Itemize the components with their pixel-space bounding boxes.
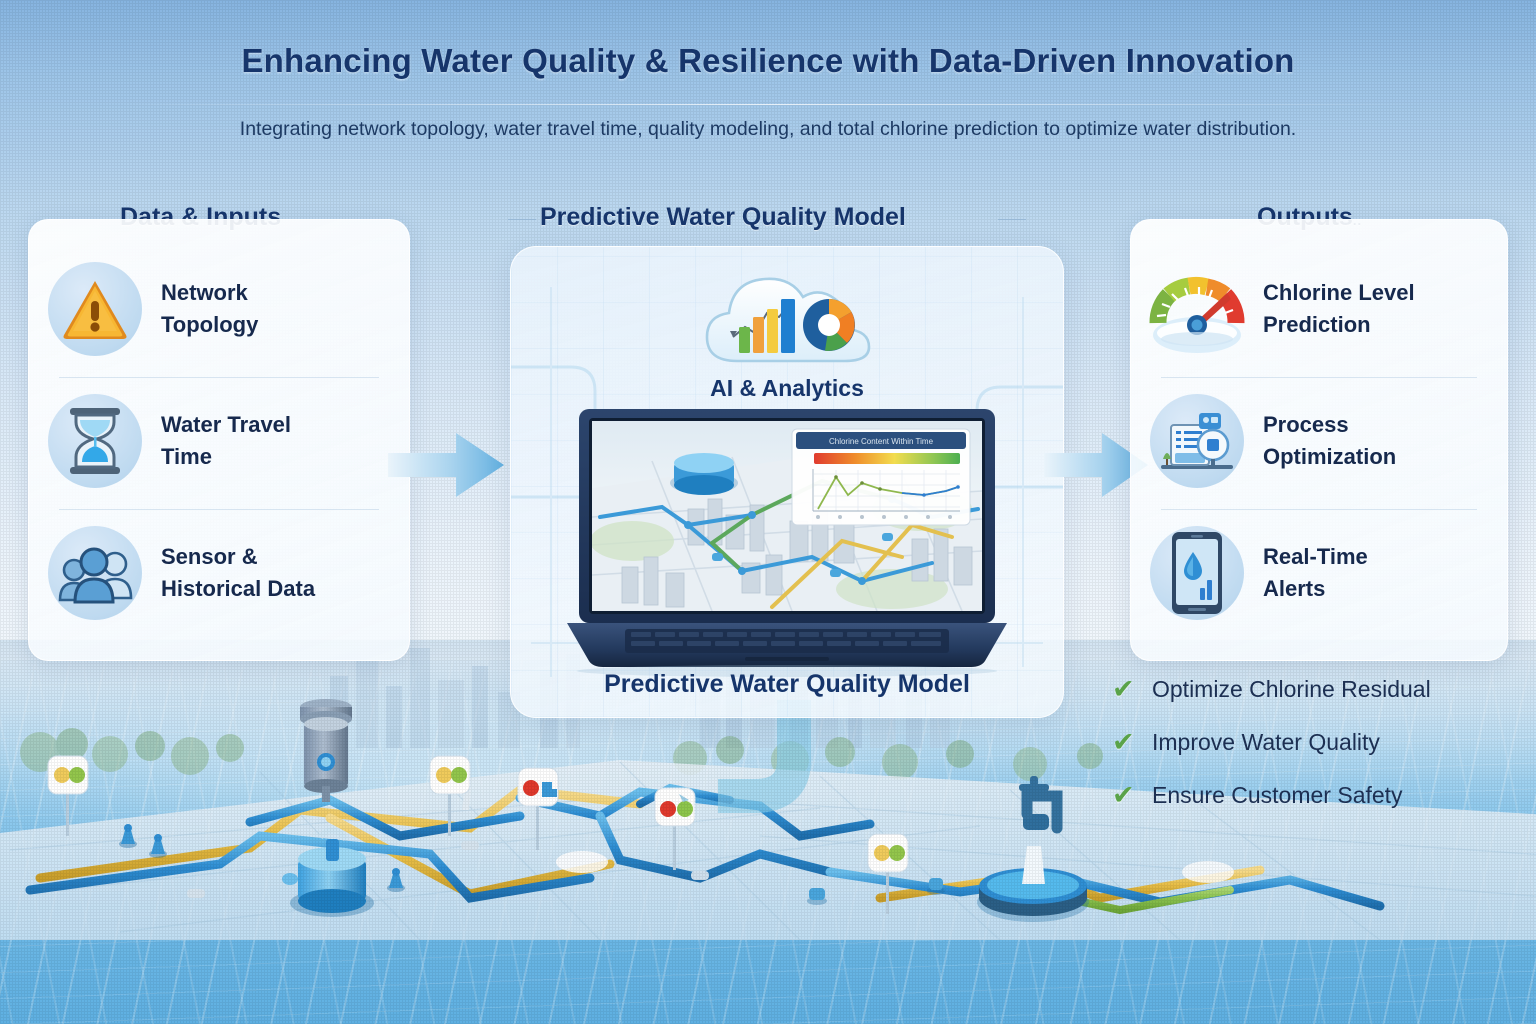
list-item-benefit: ✔ Improve Water Quality (1112, 729, 1512, 756)
benefits-checklist: ✔ Optimize Chlorine Residual ✔ Improve W… (1112, 676, 1512, 835)
icon-disc (48, 262, 142, 356)
data-inputs-panel: Network Topology (28, 219, 410, 661)
benefit-label: Optimize Chlorine Residual (1152, 676, 1431, 703)
icon-slot (29, 262, 161, 356)
laptop-mockup: Chlorine Content Within Time (567, 409, 1007, 682)
list-item-network-topology[interactable]: Network Topology (29, 248, 409, 370)
chart-title: Chlorine Content Within Time (829, 437, 934, 446)
icon-slot (29, 394, 161, 488)
icon-slot (1131, 526, 1263, 620)
label-line-2: Time (161, 444, 212, 469)
hourglass-icon (64, 406, 126, 476)
warning-triangle-icon (60, 277, 130, 341)
list-item-sensor-historical-data[interactable]: Sensor & Historical Data (29, 512, 409, 634)
list-item-real-time-alerts[interactable]: Real-Time Alerts (1131, 512, 1507, 634)
output-row-divider (1161, 377, 1477, 378)
icon-disc (48, 526, 142, 620)
list-item-water-travel-time[interactable]: Water Travel Time (29, 380, 409, 502)
cloud-icon-wrap (689, 261, 885, 388)
list-item-chlorine-level-prediction[interactable]: Chlorine Level Prediction (1131, 248, 1507, 370)
icon-disc (1150, 394, 1244, 488)
label-line-1: Water Travel (161, 412, 291, 437)
label-line-2: Historical Data (161, 576, 315, 601)
center-heading-rule-left (508, 219, 536, 220)
blank-node (556, 851, 608, 873)
check-icon: ✔ (1112, 729, 1152, 756)
page-title: Enhancing Water Quality & Resilience wit… (0, 42, 1536, 80)
list-item-label: Process Optimization (1263, 409, 1396, 473)
label-line-1: Sensor & (161, 544, 258, 569)
label-line-1: Process (1263, 412, 1349, 437)
facility-dashboard-icon (1157, 407, 1237, 475)
icon-slot (1131, 394, 1263, 488)
center-heading-rule-right (998, 219, 1026, 220)
list-item-label: Chlorine Level Prediction (1263, 277, 1415, 341)
icon-slot (1131, 261, 1263, 357)
water-storage-tank (300, 699, 352, 802)
icon-slot (29, 526, 161, 620)
page-subtitle: Integrating network topology, water trav… (0, 118, 1536, 141)
list-item-benefit: ✔ Optimize Chlorine Residual (1112, 676, 1512, 703)
input-row-divider (59, 377, 379, 378)
icon-disc (48, 394, 142, 488)
list-item-label: Real-Time Alerts (1263, 541, 1368, 605)
benefit-label: Improve Water Quality (1152, 729, 1380, 756)
label-line-2: Topology (161, 312, 258, 337)
icon-disc (1150, 526, 1244, 620)
label-line-2: Alerts (1263, 576, 1325, 601)
check-icon: ✔ (1112, 676, 1152, 703)
gauge-icon (1145, 261, 1249, 357)
check-icon: ✔ (1112, 782, 1152, 809)
output-row-divider (1161, 509, 1477, 510)
cloud-analytics-icon (689, 261, 885, 383)
list-item-process-optimization[interactable]: Process Optimization (1131, 380, 1507, 502)
input-row-divider (59, 509, 379, 510)
list-item-label: Water Travel Time (161, 409, 291, 473)
mobile-alert-icon (1166, 530, 1228, 616)
flow-connector (718, 700, 908, 830)
benefit-label: Ensure Customer Safety (1152, 782, 1403, 809)
label-line-2: Prediction (1263, 312, 1371, 337)
heading-predictive-model: Predictive Water Quality Model (540, 203, 906, 232)
list-item-benefit: ✔ Ensure Customer Safety (1112, 782, 1512, 809)
predictive-model-panel: AI & Analytics (510, 246, 1064, 718)
people-group-icon (57, 542, 133, 604)
list-item-label: Sensor & Historical Data (161, 541, 315, 605)
infographic-canvas: Enhancing Water Quality & Resilience wit… (0, 0, 1536, 1024)
laptop-svg: Chlorine Content Within Time (567, 409, 1007, 677)
list-item-label: Network Topology (161, 277, 258, 341)
label-line-1: Chlorine Level (1263, 280, 1415, 305)
label-line-2: Optimization (1263, 444, 1396, 469)
ai-analytics-label: AI & Analytics (511, 375, 1063, 402)
outputs-panel: Chlorine Level Prediction (1130, 219, 1508, 661)
arrow-inputs-to-model (388, 425, 506, 505)
label-line-1: Network (161, 280, 248, 305)
title-divider (118, 104, 1418, 105)
model-caption: Predictive Water Quality Model (511, 670, 1063, 699)
laptop-chart-overlay: Chlorine Content Within Time (792, 429, 970, 525)
label-line-1: Real-Time (1263, 544, 1368, 569)
